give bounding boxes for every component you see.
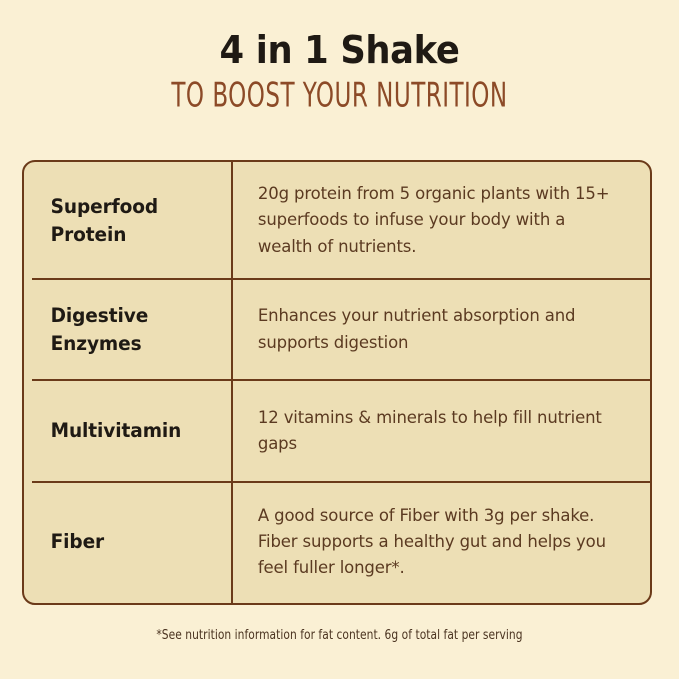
row-description-superfood-protein: 20g protein from 5 organic plants with 1… bbox=[231, 181, 633, 259]
row-description-digestive-enzymes: Enhances your nutrient absorption and su… bbox=[231, 303, 633, 355]
footnote: *See nutrition information for fat conte… bbox=[34, 628, 645, 643]
benefits-table: Superfood Protein 20g protein from 5 org… bbox=[22, 160, 652, 605]
row-description-fiber: A good source of Fiber with 3g per shake… bbox=[231, 503, 633, 581]
header: 4 in 1 Shake TO BOOST YOUR NUTRITION bbox=[0, 30, 679, 114]
row-label-fiber: Fiber bbox=[24, 528, 221, 556]
table-row: Fiber A good source of Fiber with 3g per… bbox=[24, 482, 650, 602]
table-row: Superfood Protein 20g protein from 5 org… bbox=[24, 162, 650, 279]
nutrition-infographic: 4 in 1 Shake TO BOOST YOUR NUTRITION Sup… bbox=[0, 0, 679, 679]
row-label-digestive-enzymes: Digestive Enzymes bbox=[24, 302, 221, 357]
page-subtitle: TO BOOST YOUR NUTRITION bbox=[68, 77, 611, 115]
page-title: 4 in 1 Shake bbox=[24, 30, 655, 70]
row-label-multivitamin: Multivitamin bbox=[24, 417, 221, 445]
row-label-superfood-protein: Superfood Protein bbox=[24, 193, 221, 248]
table-row: Digestive Enzymes Enhances your nutrient… bbox=[24, 279, 650, 380]
table-row: Multivitamin 12 vitamins & minerals to h… bbox=[24, 380, 650, 482]
row-description-multivitamin: 12 vitamins & minerals to help fill nutr… bbox=[231, 405, 633, 457]
